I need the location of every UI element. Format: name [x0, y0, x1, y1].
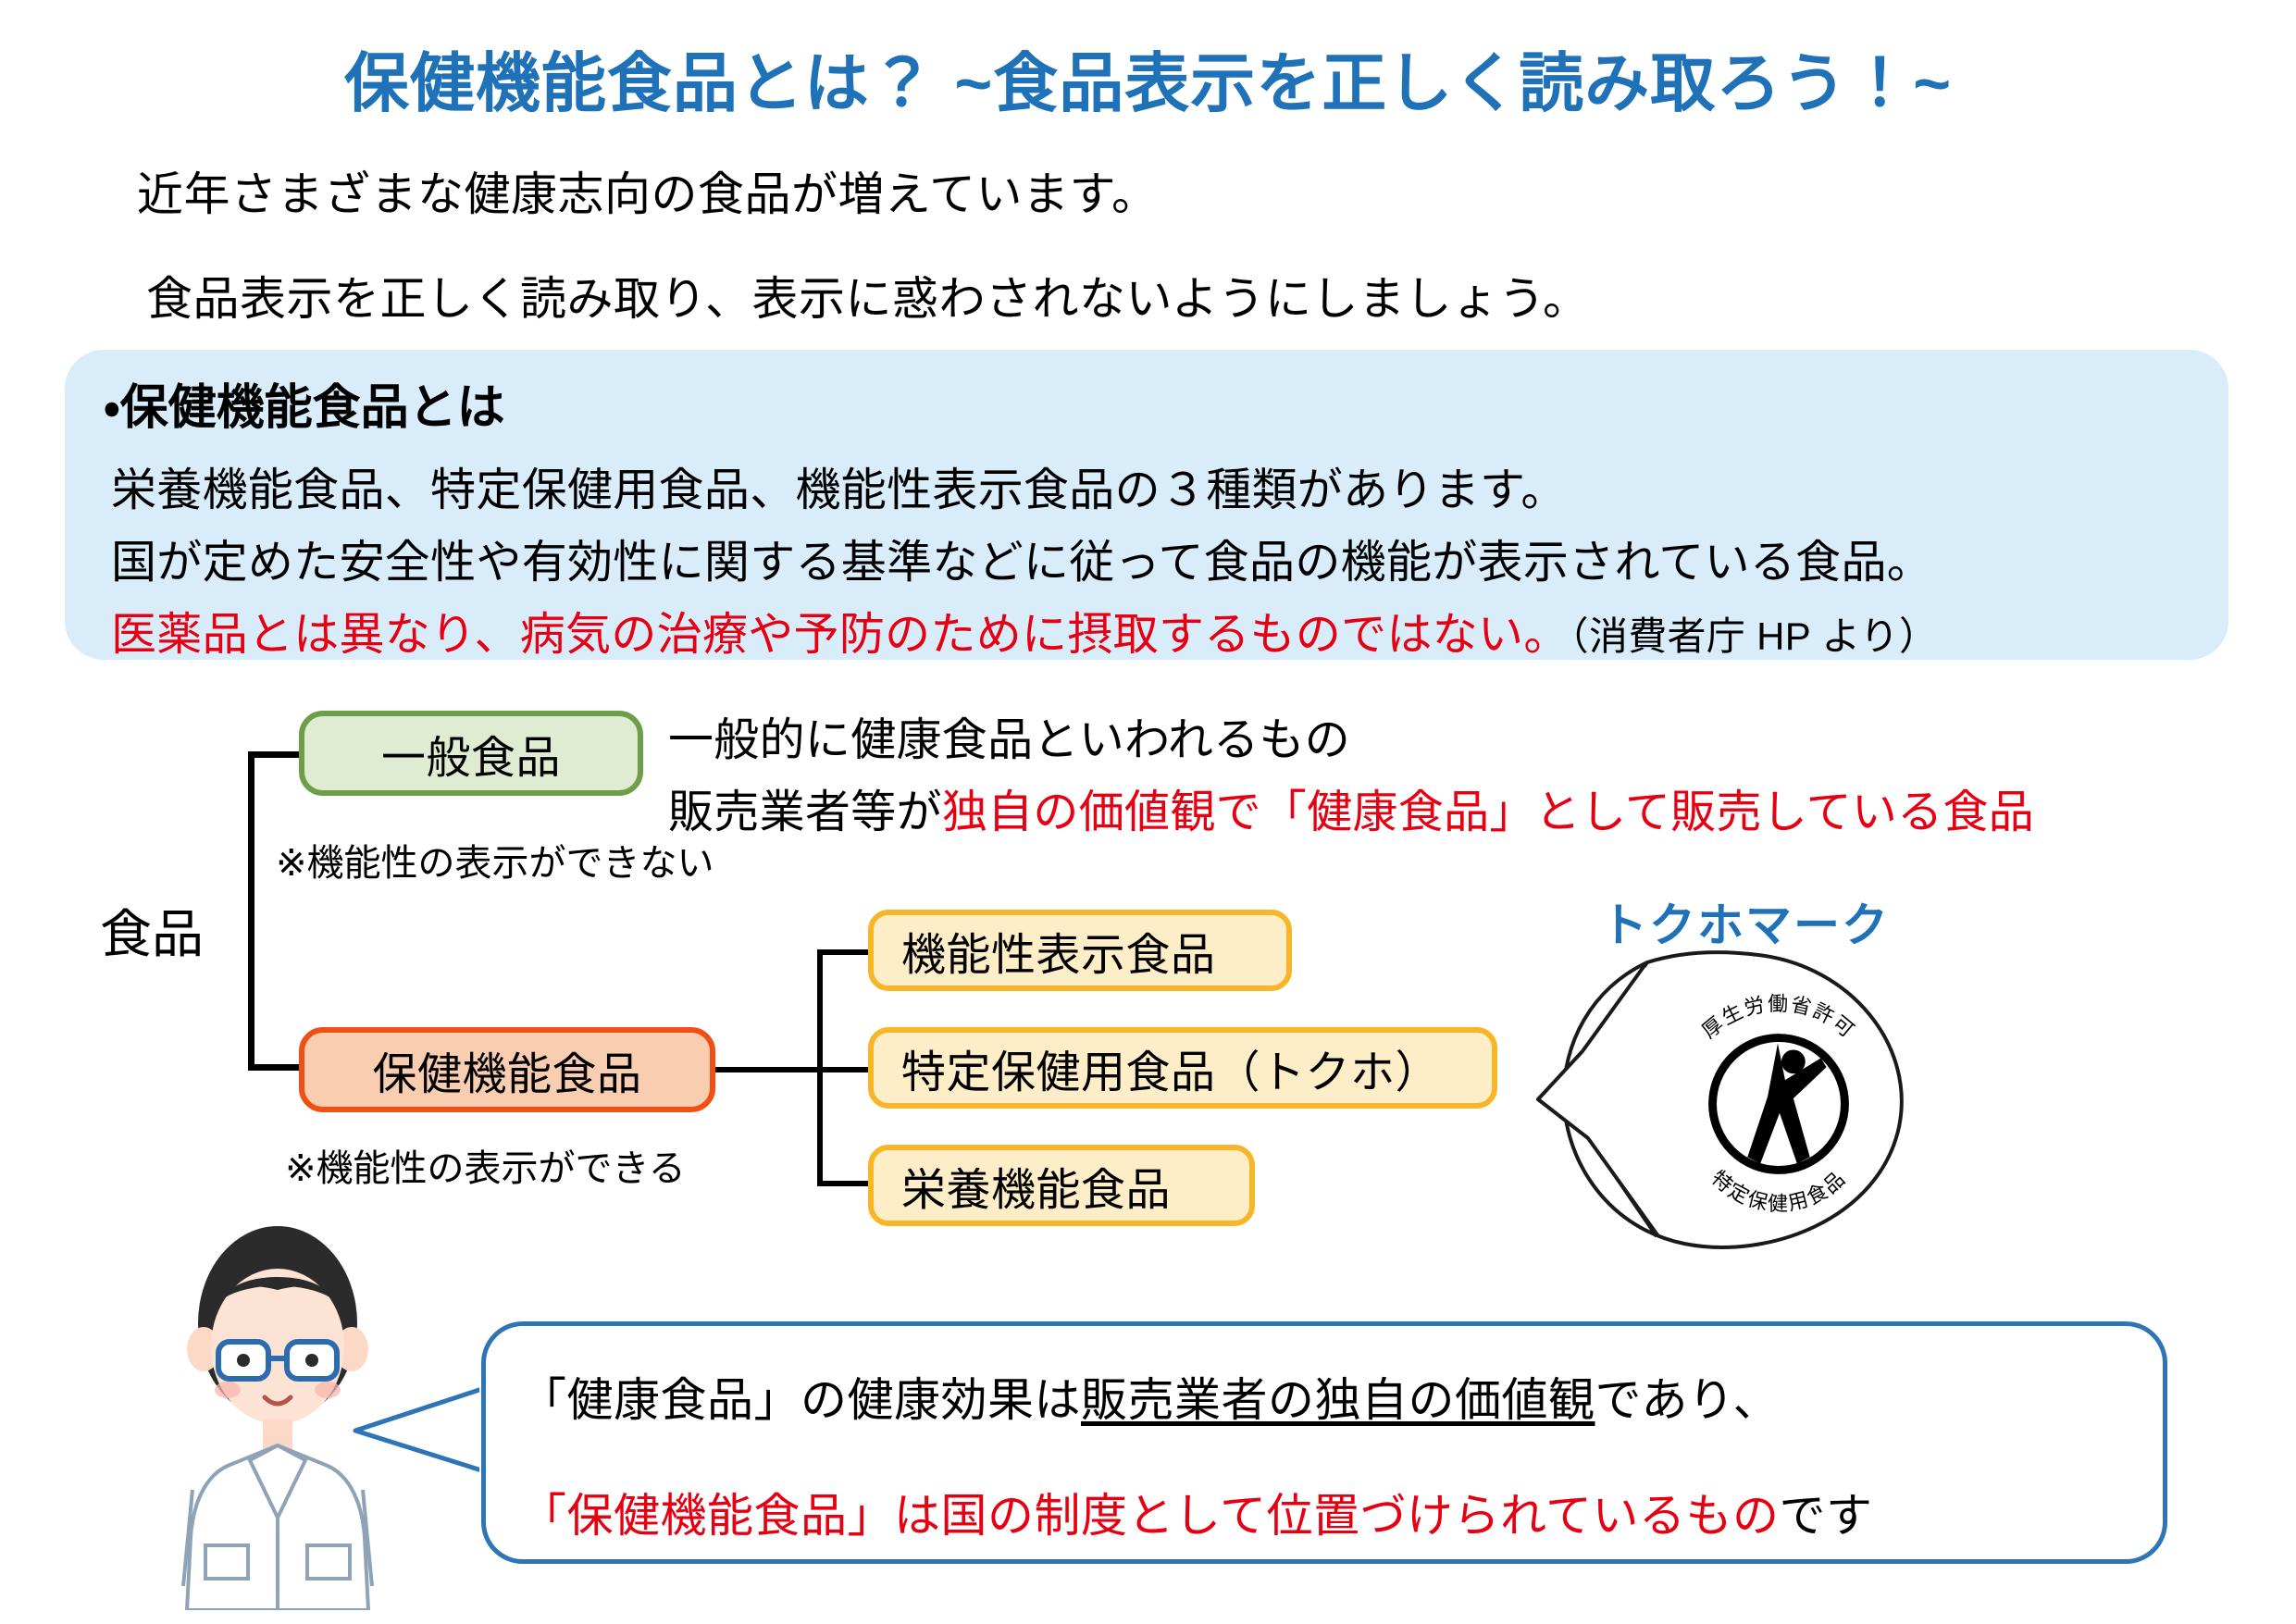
node-general-food[interactable]: 一般食品	[299, 711, 643, 796]
node-tokutei-hoken-label: 特定保健用食品（トクホ）	[901, 1035, 1440, 1100]
speech-line-2-black: です	[1780, 1490, 1873, 1542]
info-box-line-3-red: 医薬品とは異なり、病気の治療や予防のために摂取するものではない。	[111, 610, 1570, 660]
general-food-desc-line-2: 販売業者等が独自の価値観で「健康食品」として販売している食品	[668, 775, 2034, 841]
general-food-desc-prefix: 販売業者等が	[668, 787, 942, 837]
node-tokutei-hoken[interactable]: 特定保健用食品（トクホ）	[868, 1027, 1497, 1109]
speech-line-1-part1: 「健康食品」の健康効果は	[520, 1374, 1081, 1426]
speech-line-1-underlined: 販売業者の独自の価値観	[1081, 1374, 1595, 1426]
page-title: 保健機能食品とは？ ~食品表示を正しく読み取ろう！~	[0, 31, 2296, 125]
info-box-heading: ・保健機能食品とは	[104, 368, 505, 438]
node-hoken-food-label: 保健機能食品	[372, 1037, 641, 1102]
tree-branch-tokuho	[817, 1067, 873, 1072]
tree-spine-vertical	[248, 751, 254, 1070]
node-general-food-label: 一般食品	[381, 721, 561, 786]
node-kinousei-hyouji[interactable]: 機能性表示食品	[868, 910, 1292, 991]
info-box-line-3: 医薬品とは異なり、病気の治療や予防のために摂取するものではない。（消費者庁 HP…	[111, 598, 1938, 663]
speech-line-2-red: 「保健機能食品」は国の制度として位置づけられているもの	[520, 1490, 1780, 1542]
speech-line-2: 「保健機能食品」は国の制度として位置づけられているものです	[520, 1479, 1873, 1545]
tree-branch-kinousei	[817, 949, 873, 955]
general-food-desc-red: 独自の価値観で「健康食品」として販売している食品	[942, 787, 2034, 837]
tree-branch-general	[248, 751, 302, 758]
tree-root-label: 食品	[100, 893, 204, 968]
note-hoken-food: ※機能性の表示ができる	[285, 1138, 686, 1192]
info-box-line-2: 国が定めた安全性や有効性に関する基準などに従って食品の機能が表示されている食品。	[111, 526, 1932, 591]
speech-line-1-part2: であり、	[1595, 1374, 1781, 1426]
info-box-line-1: 栄養機能食品、特定保健用食品、機能性表示食品の３種類があります。	[111, 453, 1567, 519]
poster-page: 保健機能食品とは？ ~食品表示を正しく読み取ろう！~ 近年さまざまな健康志向の食…	[0, 0, 2296, 1624]
node-eiyou-kinou-label: 栄養機能食品	[901, 1153, 1171, 1218]
node-eiyou-kinou[interactable]: 栄養機能食品	[868, 1145, 1255, 1226]
tokuho-certification-mark: 厚生労働省許可 特定保健用食品	[1659, 983, 1898, 1221]
node-kinousei-hyouji-label: 機能性表示食品	[901, 918, 1216, 983]
intro-line-1: 近年さまざまな健康志向の食品が増えています。	[137, 157, 1159, 224]
info-box-source: （消費者庁 HP より）	[1570, 614, 1939, 658]
intro-line-2: 食品表示を正しく読み取り、表示に惑わされないようにしましょう。	[146, 262, 1590, 329]
note-general-food: ※機能性の表示ができない	[276, 833, 714, 886]
general-food-desc-line-1: 一般的に健康食品といわれるもの	[668, 703, 1350, 769]
node-hoken-food[interactable]: 保健機能食品	[299, 1027, 715, 1112]
speech-bubble-tail	[352, 1370, 490, 1490]
tree-branch-hoken	[248, 1064, 302, 1071]
speech-line-1: 「健康食品」の健康効果は販売業者の独自の価値観であり、	[520, 1363, 1780, 1430]
tree-branch-eiyou	[817, 1181, 873, 1186]
